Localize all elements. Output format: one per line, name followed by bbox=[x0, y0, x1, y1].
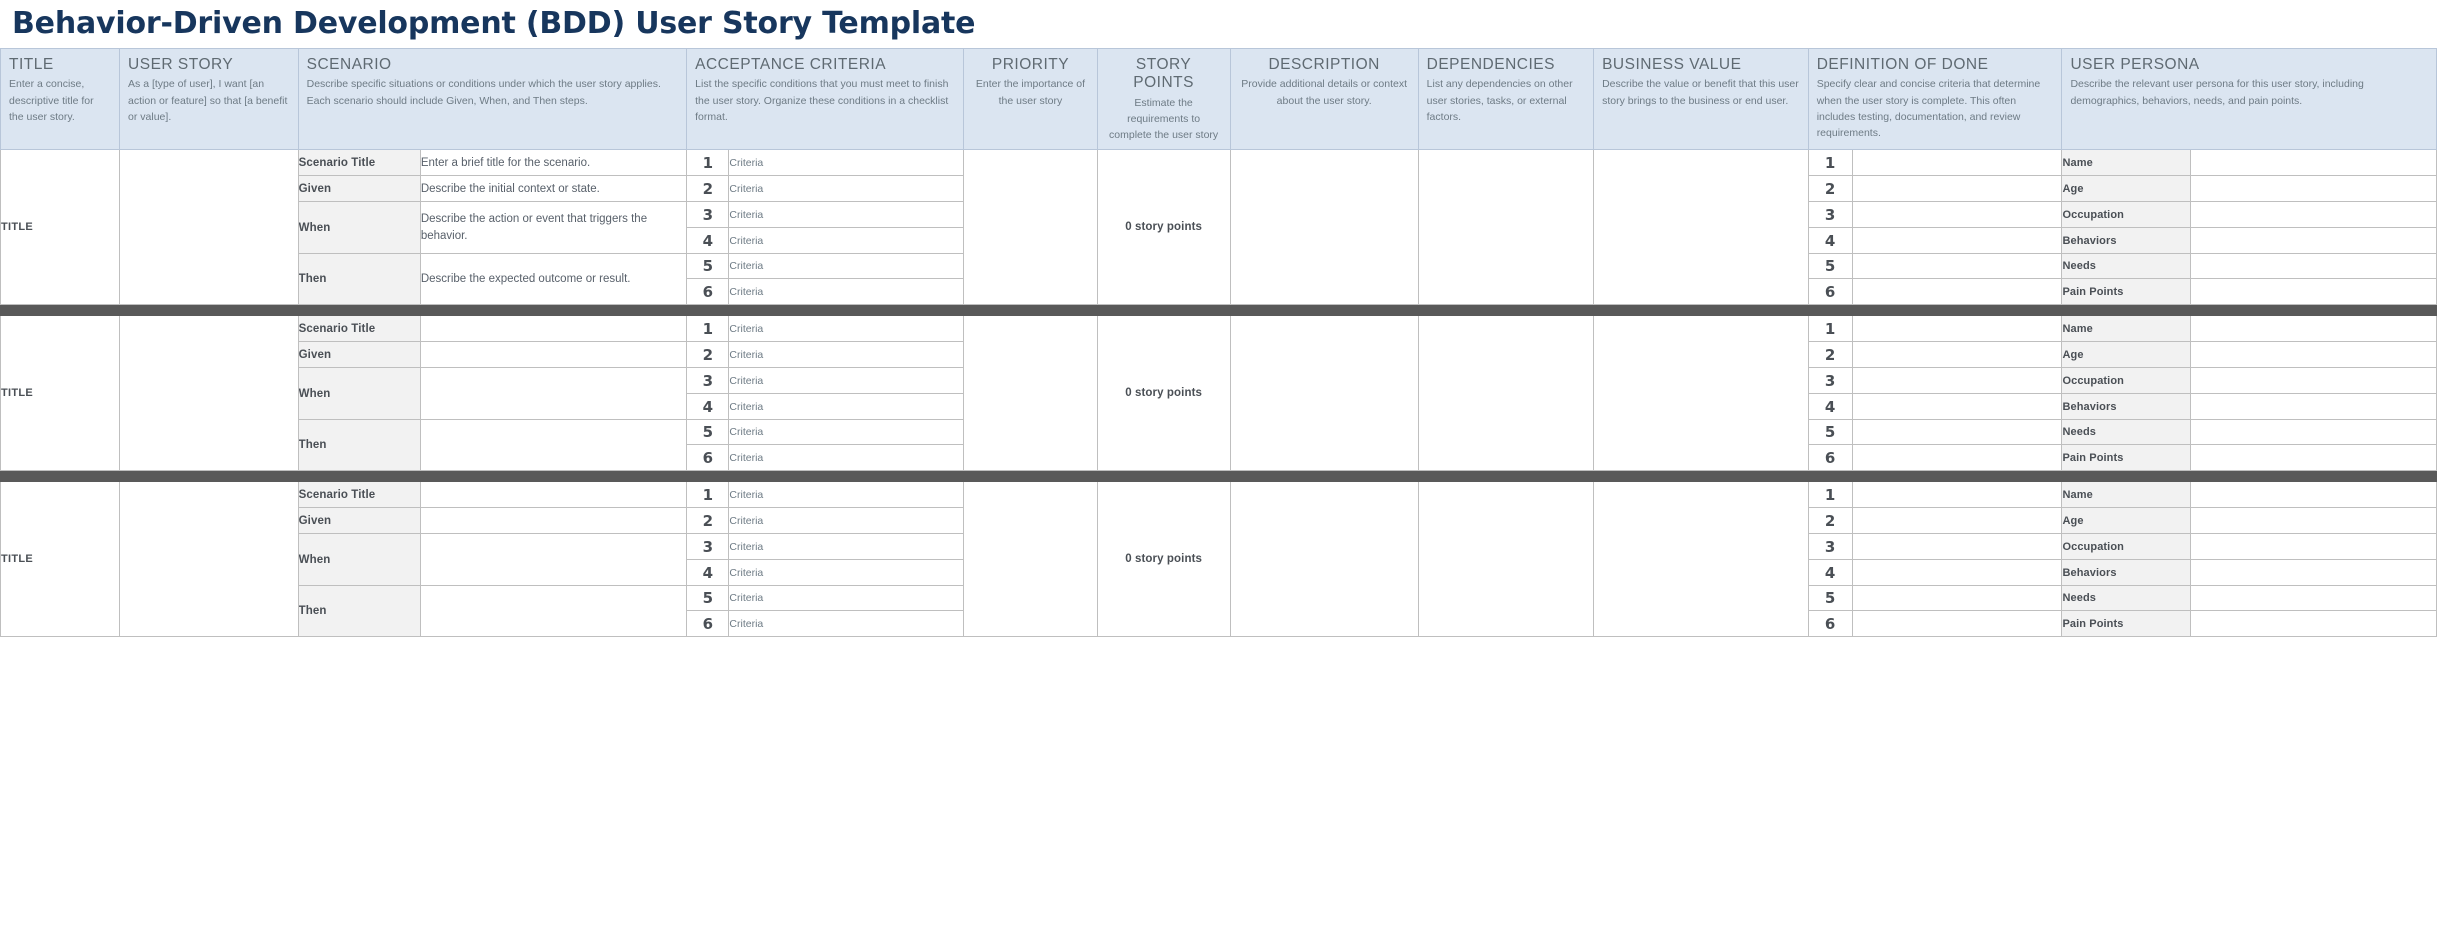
criteria-number: 5 bbox=[687, 586, 729, 611]
dod-cell[interactable] bbox=[1852, 202, 2062, 228]
column-header-dependencies: DEPENDENCIESList any dependencies on oth… bbox=[1418, 49, 1593, 150]
scenario-label-scenario-title: Scenario Title bbox=[298, 150, 420, 176]
column-header-title: USER PERSONA bbox=[2070, 56, 2428, 74]
dod-number: 2 bbox=[1808, 508, 1852, 534]
persona-field-value[interactable] bbox=[2190, 254, 2436, 279]
criteria-number: 6 bbox=[687, 611, 729, 637]
dod-cell[interactable] bbox=[1852, 420, 2062, 445]
persona-field-value[interactable] bbox=[2190, 445, 2436, 471]
criteria-cell[interactable]: Criteria bbox=[729, 586, 964, 611]
scenario-label-then: Then bbox=[298, 586, 420, 637]
priority-cell[interactable] bbox=[964, 150, 1097, 305]
criteria-number: 3 bbox=[687, 368, 729, 394]
column-header-title: STORY POINTS bbox=[1106, 56, 1222, 93]
criteria-cell[interactable]: Criteria bbox=[729, 534, 964, 560]
column-header-description: Specify clear and concise criteria that … bbox=[1817, 76, 2054, 141]
column-header-title: USER STORY bbox=[128, 56, 290, 74]
persona-field-value[interactable] bbox=[2190, 482, 2436, 508]
column-header-scenario: SCENARIODescribe specific situations or … bbox=[298, 49, 687, 150]
criteria-cell[interactable]: Criteria bbox=[729, 228, 964, 254]
column-header-acceptance-criteria: ACCEPTANCE CRITERIAList the specific con… bbox=[687, 49, 964, 150]
column-header-user-persona: USER PERSONADescribe the relevant user p… bbox=[2062, 49, 2437, 150]
user-story-cell[interactable] bbox=[120, 150, 299, 305]
column-header-title: DEPENDENCIES bbox=[1427, 56, 1585, 74]
dod-number: 6 bbox=[1808, 279, 1852, 305]
dependencies-cell[interactable] bbox=[1418, 316, 1593, 471]
dod-number: 2 bbox=[1808, 342, 1852, 368]
persona-field-label: Occupation bbox=[2062, 202, 2190, 228]
scenario-label-when: When bbox=[298, 202, 420, 254]
dod-cell[interactable] bbox=[1852, 150, 2062, 176]
persona-field-label: Behaviors bbox=[2062, 394, 2190, 420]
story-title-cell[interactable]: TITLE bbox=[1, 482, 120, 637]
column-header-title: SCENARIO bbox=[307, 56, 679, 74]
priority-cell[interactable] bbox=[964, 316, 1097, 471]
dod-cell[interactable] bbox=[1852, 342, 2062, 368]
persona-field-label: Needs bbox=[2062, 254, 2190, 279]
criteria-number: 3 bbox=[687, 534, 729, 560]
persona-field-value[interactable] bbox=[2190, 534, 2436, 560]
column-header-description: Describe the value or benefit that this … bbox=[1602, 76, 1800, 109]
dod-cell[interactable] bbox=[1852, 534, 2062, 560]
persona-field-value[interactable] bbox=[2190, 316, 2436, 342]
dod-number: 3 bbox=[1808, 202, 1852, 228]
criteria-cell[interactable]: Criteria bbox=[729, 508, 964, 534]
table-row: TITLEScenario TitleEnter a brief title f… bbox=[1, 150, 2437, 176]
column-header-description: DESCRIPTIONProvide additional details or… bbox=[1230, 49, 1418, 150]
criteria-cell[interactable]: Criteria bbox=[729, 202, 964, 228]
column-header-description: List any dependencies on other user stor… bbox=[1427, 76, 1585, 125]
column-header-description: Provide additional details or context ab… bbox=[1239, 76, 1410, 109]
user-story-cell[interactable] bbox=[120, 482, 299, 637]
criteria-cell[interactable]: Criteria bbox=[729, 176, 964, 202]
persona-field-value[interactable] bbox=[2190, 202, 2436, 228]
persona-field-value[interactable] bbox=[2190, 508, 2436, 534]
user-story-cell[interactable] bbox=[120, 316, 299, 471]
description-cell[interactable] bbox=[1230, 316, 1418, 471]
persona-field-label: Age bbox=[2062, 176, 2190, 202]
dod-number: 1 bbox=[1808, 482, 1852, 508]
dod-number: 5 bbox=[1808, 420, 1852, 445]
criteria-number: 2 bbox=[687, 508, 729, 534]
scenario-value-when[interactable] bbox=[420, 368, 686, 420]
description-cell[interactable] bbox=[1230, 482, 1418, 637]
criteria-cell[interactable]: Criteria bbox=[729, 316, 964, 342]
criteria-number: 6 bbox=[687, 445, 729, 471]
criteria-cell[interactable]: Criteria bbox=[729, 254, 964, 279]
persona-field-value[interactable] bbox=[2190, 611, 2436, 637]
dod-cell[interactable] bbox=[1852, 254, 2062, 279]
dod-cell[interactable] bbox=[1852, 445, 2062, 471]
persona-field-value[interactable] bbox=[2190, 368, 2436, 394]
dod-cell[interactable] bbox=[1852, 508, 2062, 534]
row-group-separator bbox=[1, 305, 2437, 316]
dependencies-cell[interactable] bbox=[1418, 482, 1593, 637]
criteria-cell[interactable]: Criteria bbox=[729, 279, 964, 305]
dod-cell[interactable] bbox=[1852, 586, 2062, 611]
column-header-definition-of-done: DEFINITION OF DONESpecify clear and conc… bbox=[1808, 49, 2062, 150]
column-header-description: List the specific conditions that you mu… bbox=[695, 76, 955, 125]
persona-field-label: Behaviors bbox=[2062, 560, 2190, 586]
story-points-cell[interactable]: 0 story points bbox=[1097, 150, 1230, 305]
scenario-label-when: When bbox=[298, 534, 420, 586]
column-header-description: Describe the relevant user persona for t… bbox=[2070, 76, 2428, 109]
dod-number: 4 bbox=[1808, 228, 1852, 254]
persona-field-label: Behaviors bbox=[2062, 228, 2190, 254]
criteria-cell[interactable]: Criteria bbox=[729, 394, 964, 420]
criteria-cell[interactable]: Criteria bbox=[729, 445, 964, 471]
scenario-label-scenario-title: Scenario Title bbox=[298, 316, 420, 342]
dod-number: 4 bbox=[1808, 560, 1852, 586]
persona-field-value[interactable] bbox=[2190, 279, 2436, 305]
dod-number: 6 bbox=[1808, 445, 1852, 471]
dod-cell[interactable] bbox=[1852, 176, 2062, 202]
criteria-number: 5 bbox=[687, 420, 729, 445]
column-header-user-story: USER STORYAs a [type of user], I want [a… bbox=[120, 49, 299, 150]
page-title: Behavior-Driven Development (BDD) User S… bbox=[0, 0, 2437, 48]
criteria-number: 4 bbox=[687, 228, 729, 254]
scenario-label-when: When bbox=[298, 368, 420, 420]
criteria-number: 4 bbox=[687, 560, 729, 586]
column-header-description: Enter a concise, descriptive title for t… bbox=[9, 76, 111, 125]
criteria-number: 6 bbox=[687, 279, 729, 305]
story-title-cell[interactable]: TITLE bbox=[1, 316, 120, 471]
scenario-value-scenario-title[interactable] bbox=[420, 482, 686, 508]
column-header-description: Estimate the requirements to complete th… bbox=[1106, 95, 1222, 144]
persona-field-value[interactable] bbox=[2190, 394, 2436, 420]
dod-number: 2 bbox=[1808, 176, 1852, 202]
separator-bar bbox=[1, 471, 2437, 482]
bdd-user-story-table: TITLEEnter a concise, descriptive title … bbox=[0, 48, 2437, 637]
criteria-cell[interactable]: Criteria bbox=[729, 342, 964, 368]
scenario-value-when[interactable] bbox=[420, 534, 686, 586]
persona-field-label: Pain Points bbox=[2062, 445, 2190, 471]
column-header-title: ACCEPTANCE CRITERIA bbox=[695, 56, 955, 74]
dod-number: 1 bbox=[1808, 150, 1852, 176]
dod-cell[interactable] bbox=[1852, 611, 2062, 637]
dod-number: 5 bbox=[1808, 254, 1852, 279]
criteria-number: 2 bbox=[687, 176, 729, 202]
criteria-number: 1 bbox=[687, 482, 729, 508]
persona-field-label: Age bbox=[2062, 342, 2190, 368]
column-header-title: PRIORITY bbox=[972, 56, 1088, 74]
dod-cell[interactable] bbox=[1852, 316, 2062, 342]
persona-field-value[interactable] bbox=[2190, 176, 2436, 202]
column-header-description: Describe specific situations or conditio… bbox=[307, 76, 679, 109]
business-value-cell[interactable] bbox=[1594, 150, 1809, 305]
scenario-label-given: Given bbox=[298, 342, 420, 368]
criteria-number: 1 bbox=[687, 150, 729, 176]
column-header-title: DEFINITION OF DONE bbox=[1817, 56, 2054, 74]
dod-cell[interactable] bbox=[1852, 279, 2062, 305]
column-header-story-points: STORY POINTSEstimate the requirements to… bbox=[1097, 49, 1230, 150]
table-row: TITLEScenario Title1Criteria0 story poin… bbox=[1, 482, 2437, 508]
persona-field-label: Occupation bbox=[2062, 534, 2190, 560]
scenario-label-given: Given bbox=[298, 508, 420, 534]
scenario-value-given[interactable] bbox=[420, 508, 686, 534]
scenario-label-scenario-title: Scenario Title bbox=[298, 482, 420, 508]
scenario-value-then[interactable] bbox=[420, 586, 686, 637]
persona-field-label: Occupation bbox=[2062, 368, 2190, 394]
scenario-label-then: Then bbox=[298, 420, 420, 471]
scenario-label-then: Then bbox=[298, 254, 420, 305]
business-value-cell[interactable] bbox=[1594, 316, 1809, 471]
description-cell[interactable] bbox=[1230, 150, 1418, 305]
dod-number: 4 bbox=[1808, 394, 1852, 420]
scenario-value-when[interactable]: Describe the action or event that trigge… bbox=[420, 202, 686, 254]
dod-number: 3 bbox=[1808, 368, 1852, 394]
persona-field-label: Name bbox=[2062, 150, 2190, 176]
criteria-cell[interactable]: Criteria bbox=[729, 420, 964, 445]
criteria-number: 3 bbox=[687, 202, 729, 228]
dod-number: 5 bbox=[1808, 586, 1852, 611]
business-value-cell[interactable] bbox=[1594, 482, 1809, 637]
persona-field-value[interactable] bbox=[2190, 586, 2436, 611]
criteria-cell[interactable]: Criteria bbox=[729, 368, 964, 394]
dod-cell[interactable] bbox=[1852, 560, 2062, 586]
column-header-priority: PRIORITYEnter the importance of the user… bbox=[964, 49, 1097, 150]
scenario-value-scenario-title[interactable]: Enter a brief title for the scenario. bbox=[420, 150, 686, 176]
criteria-number: 1 bbox=[687, 316, 729, 342]
row-group-separator bbox=[1, 471, 2437, 482]
persona-field-label: Needs bbox=[2062, 586, 2190, 611]
criteria-cell[interactable]: Criteria bbox=[729, 482, 964, 508]
column-header-title: TITLEEnter a concise, descriptive title … bbox=[1, 49, 120, 150]
criteria-number: 2 bbox=[687, 342, 729, 368]
table-header-row: TITLEEnter a concise, descriptive title … bbox=[1, 49, 2437, 150]
column-header-business-value: BUSINESS VALUEDescribe the value or bene… bbox=[1594, 49, 1809, 150]
persona-field-label: Age bbox=[2062, 508, 2190, 534]
persona-field-label: Pain Points bbox=[2062, 611, 2190, 637]
dod-cell[interactable] bbox=[1852, 394, 2062, 420]
criteria-cell[interactable]: Criteria bbox=[729, 150, 964, 176]
scenario-value-then[interactable] bbox=[420, 420, 686, 471]
criteria-cell[interactable]: Criteria bbox=[729, 611, 964, 637]
persona-field-value[interactable] bbox=[2190, 342, 2436, 368]
dod-number: 6 bbox=[1808, 611, 1852, 637]
criteria-number: 5 bbox=[687, 254, 729, 279]
column-header-description: Enter the importance of the user story bbox=[972, 76, 1088, 109]
story-points-cell[interactable]: 0 story points bbox=[1097, 482, 1230, 637]
scenario-value-scenario-title[interactable] bbox=[420, 316, 686, 342]
dod-cell[interactable] bbox=[1852, 482, 2062, 508]
column-header-description: As a [type of user], I want [an action o… bbox=[128, 76, 290, 125]
story-title-cell[interactable]: TITLE bbox=[1, 150, 120, 305]
scenario-value-given[interactable] bbox=[420, 342, 686, 368]
persona-field-label: Name bbox=[2062, 482, 2190, 508]
persona-field-label: Pain Points bbox=[2062, 279, 2190, 305]
persona-field-label: Name bbox=[2062, 316, 2190, 342]
persona-field-value[interactable] bbox=[2190, 228, 2436, 254]
dod-number: 3 bbox=[1808, 534, 1852, 560]
column-header-title: BUSINESS VALUE bbox=[1602, 56, 1800, 74]
persona-field-value[interactable] bbox=[2190, 150, 2436, 176]
persona-field-value[interactable] bbox=[2190, 560, 2436, 586]
persona-field-value[interactable] bbox=[2190, 420, 2436, 445]
column-header-title: DESCRIPTION bbox=[1239, 56, 1410, 74]
dod-number: 1 bbox=[1808, 316, 1852, 342]
story-points-cell[interactable]: 0 story points bbox=[1097, 316, 1230, 471]
dod-cell[interactable] bbox=[1852, 368, 2062, 394]
dependencies-cell[interactable] bbox=[1418, 150, 1593, 305]
scenario-label-given: Given bbox=[298, 176, 420, 202]
separator-bar bbox=[1, 305, 2437, 316]
dod-cell[interactable] bbox=[1852, 228, 2062, 254]
table-row: TITLEScenario Title1Criteria0 story poin… bbox=[1, 316, 2437, 342]
criteria-number: 4 bbox=[687, 394, 729, 420]
scenario-value-then[interactable]: Describe the expected outcome or result. bbox=[420, 254, 686, 305]
priority-cell[interactable] bbox=[964, 482, 1097, 637]
column-header-title: TITLE bbox=[9, 56, 111, 74]
criteria-cell[interactable]: Criteria bbox=[729, 560, 964, 586]
persona-field-label: Needs bbox=[2062, 420, 2190, 445]
scenario-value-given[interactable]: Describe the initial context or state. bbox=[420, 176, 686, 202]
